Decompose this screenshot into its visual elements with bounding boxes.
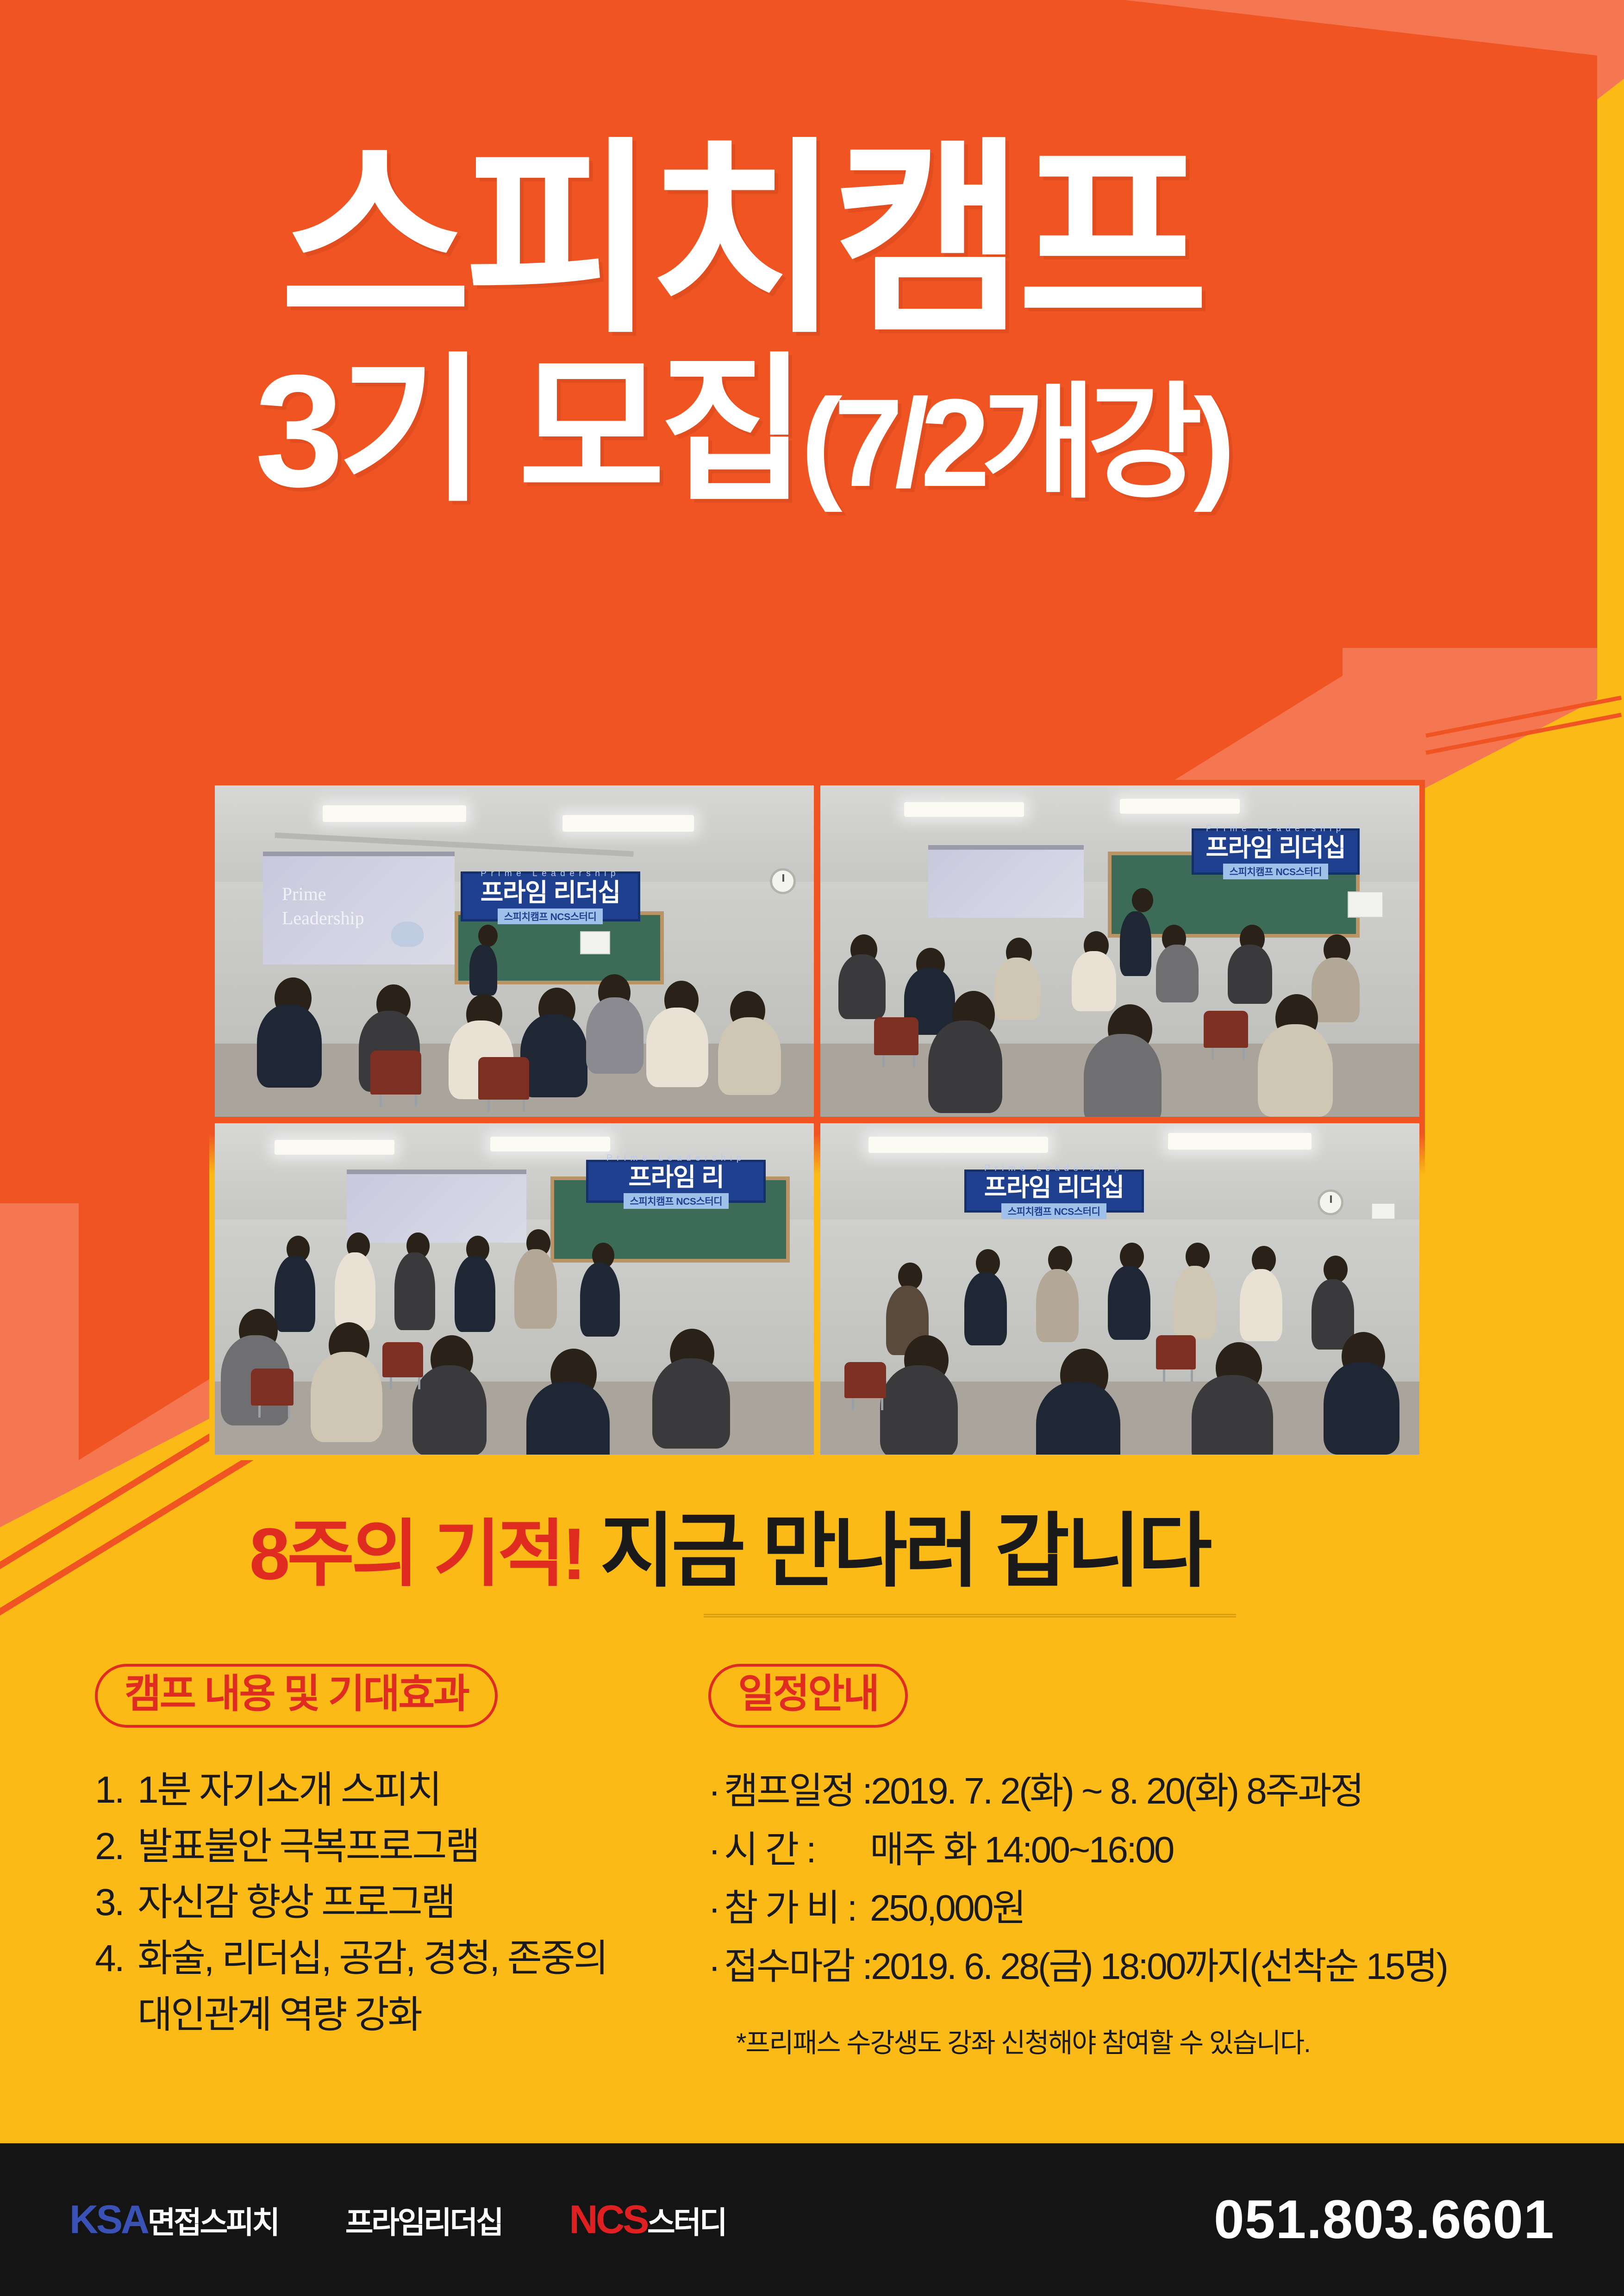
list-item-label: 1분 자기소개 스피치 — [137, 1762, 440, 1818]
banner-prime-leadership: Prime Leadership 프라임 리 스피치캠프 NCS스터디 — [586, 1160, 766, 1203]
classroom-scene: Prime Leadership 프라임 리더십 스피치캠프 NCS스터디 — [820, 1123, 1419, 1455]
contact-phone-number[interactable]: 051.803.6601 — [1214, 2188, 1555, 2251]
poster-title: 스피치캠프 3기 모집(7/2개강) — [0, 139, 1481, 515]
photo-grid: PrimeLeadership Prime Leadership 프라임 리더십… — [209, 780, 1425, 1460]
title-line-1: 스피치캠프 — [0, 139, 1481, 343]
classroom-scene: Prime Leadership 프라임 리더십 스피치캠프 NCS스터디 — [820, 785, 1419, 1117]
schedule-label: 접수마감 : — [724, 1937, 871, 1996]
title-line-2-paren: (7/2개강) — [801, 373, 1227, 513]
banner-korean: 프라임 리더십 — [481, 880, 620, 905]
list-item-number: 3. — [95, 1874, 137, 1930]
bullet-icon: · — [708, 1937, 724, 1996]
title-line-2-main: 3기 모집 — [255, 342, 801, 520]
logo-ncs-study: NCS스터디 — [569, 2200, 725, 2240]
banner-english: Prime Leadership — [481, 869, 620, 879]
list-item: 3. 자신감 향상 프로그램 — [95, 1874, 678, 1930]
list-item: 4. 화술, 리더십, 공감, 경청, 존중의 — [95, 1930, 678, 1986]
schedule-row: · 참 가 비 : 250,000원 — [708, 1879, 1583, 1937]
logo-ncs-mark: NCS — [569, 2197, 647, 2242]
footer-logo-group: KSA면접스피치 프라임리더십 NCS스터디 — [69, 2200, 725, 2240]
logo-ksa-interview-speech: KSA면접스피치 — [69, 2200, 278, 2240]
photo-circle-discussion: Prime Leadership 프라임 리더십 스피치캠프 NCS스터디 — [820, 785, 1419, 1117]
list-item-label: 자신감 향상 프로그램 — [137, 1874, 454, 1930]
list-item-label: 발표불안 극복프로그램 — [137, 1818, 479, 1874]
schedule-value: 매주 화 14:00~16:00 — [870, 1821, 1173, 1879]
banner-subtitle: 스피치캠프 NCS스터디 — [1001, 1203, 1107, 1219]
poster-root: 스피치캠프 3기 모집(7/2개강) PrimeLeadership Prime… — [0, 0, 1624, 2296]
logo-ncs-word: 스터디 — [647, 2205, 725, 2240]
schedule-row: · 접수마감 : 2019. 6. 28(금) 18:00까지(선착순 15명) — [708, 1937, 1583, 1996]
list-item: 2. 발표불안 극복프로그램 — [95, 1818, 678, 1874]
photo-lecture-front: PrimeLeadership Prime Leadership 프라임 리더십… — [215, 785, 814, 1117]
schedule-value: 2019. 7. 2(화) ~ 8. 20(화) 8주과정 — [871, 1762, 1362, 1820]
photo-group-standing: Prime Leadership 프라임 리 스피치캠프 NCS스터디 — [215, 1123, 814, 1455]
bullet-icon: · — [708, 1762, 724, 1820]
schedule-label: 시 간 : — [724, 1821, 870, 1879]
banner-prime-leadership: Prime Leadership 프라임 리더십 스피치캠프 NCS스터디 — [964, 1170, 1144, 1213]
schedule-list: · 캠프일정 : 2019. 7. 2(화) ~ 8. 20(화) 8주과정 ·… — [708, 1762, 1583, 2060]
classroom-scene: Prime Leadership 프라임 리 스피치캠프 NCS스터디 — [215, 1123, 814, 1455]
footer-bar: KSA면접스피치 프라임리더십 NCS스터디 051.803.6601 — [0, 2143, 1624, 2296]
banner-korean: 프라임 리 — [629, 1165, 724, 1190]
classroom-scene: PrimeLeadership Prime Leadership 프라임 리더십… — [215, 785, 814, 1117]
bullet-icon: · — [708, 1821, 724, 1879]
banner-subtitle: 스피치캠프 NCS스터디 — [624, 1193, 729, 1209]
schedule-row: · 캠프일정 : 2019. 7. 2(화) ~ 8. 20(화) 8주과정 — [708, 1762, 1583, 1820]
list-item-number: 1. — [95, 1762, 137, 1818]
banner-korean: 프라임 리더십 — [984, 1175, 1124, 1200]
schedule-row: · 시 간 : 매주 화 14:00~16:00 — [708, 1821, 1583, 1879]
banner-english: Prime Leadership — [1206, 824, 1345, 834]
banner-english: Prime Leadership — [606, 1153, 746, 1164]
banner-prime-leadership: Prime Leadership 프라임 리더십 스피치캠프 NCS스터디 — [1192, 828, 1359, 875]
list-item: 1. 1분 자기소개 스피치 — [95, 1762, 678, 1818]
banner-prime-leadership: Prime Leadership 프라임 리더십 스피치캠프 NCS스터디 — [461, 871, 640, 921]
camp-content-heading: 캠프 내용 및 기대효과 — [95, 1664, 498, 1728]
list-item-label: 화술, 리더십, 공감, 경청, 존중의 — [137, 1930, 607, 1986]
slogan-highlight: 8주의 기적! — [250, 1513, 584, 1595]
schedule-label: 캠프일정 : — [724, 1762, 871, 1820]
bullet-icon: · — [708, 1879, 724, 1937]
camp-content-list: 1. 1분 자기소개 스피치 2. 발표불안 극복프로그램 3. 자신감 향상 … — [95, 1762, 678, 2043]
banner-english: Prime Leadership — [984, 1164, 1124, 1174]
list-item-continuation: 대인관계 역량 강화 — [137, 1987, 678, 2043]
logo-ksa-mark: KSA — [69, 2197, 148, 2242]
schedule-value: 2019. 6. 28(금) 18:00까지(선착순 15명) — [871, 1937, 1447, 1996]
banner-subtitle: 스피치캠프 NCS스터디 — [498, 908, 603, 924]
logo-prime-word: 프라임리더십 — [345, 2205, 502, 2240]
schedule-column: 일정안내 · 캠프일정 : 2019. 7. 2(화) ~ 8. 20(화) 8… — [708, 1664, 1583, 2060]
list-item-number: 2. — [95, 1818, 137, 1874]
title-line-2: 3기 모집(7/2개강) — [0, 348, 1481, 515]
slogan: 8주의 기적!지금 만나러 갑니다 — [0, 1486, 1458, 1603]
list-item-number: 4. — [95, 1930, 137, 1986]
logo-prime-leadership: 프라임리더십 — [345, 2200, 502, 2240]
photo-clapping-activity: Prime Leadership 프라임 리더십 스피치캠프 NCS스터디 — [820, 1123, 1419, 1455]
banner-subtitle: 스피치캠프 NCS스터디 — [1223, 864, 1329, 879]
camp-content-column: 캠프 내용 및 기대효과 1. 1분 자기소개 스피치 2. 발표불안 극복프로… — [95, 1664, 678, 2043]
slogan-divider — [704, 1614, 1236, 1618]
schedule-value: 250,000원 — [870, 1879, 1024, 1937]
schedule-label: 참 가 비 : — [724, 1879, 870, 1937]
schedule-heading: 일정안내 — [708, 1664, 908, 1728]
slogan-main: 지금 만나러 갑니다 — [600, 1506, 1209, 1597]
schedule-note: *프리패스 수강생도 강좌 신청해야 참여할 수 있습니다. — [736, 2021, 1583, 2060]
logo-ksa-word: 면접스피치 — [148, 2205, 278, 2240]
banner-korean: 프라임 리더십 — [1206, 835, 1346, 860]
